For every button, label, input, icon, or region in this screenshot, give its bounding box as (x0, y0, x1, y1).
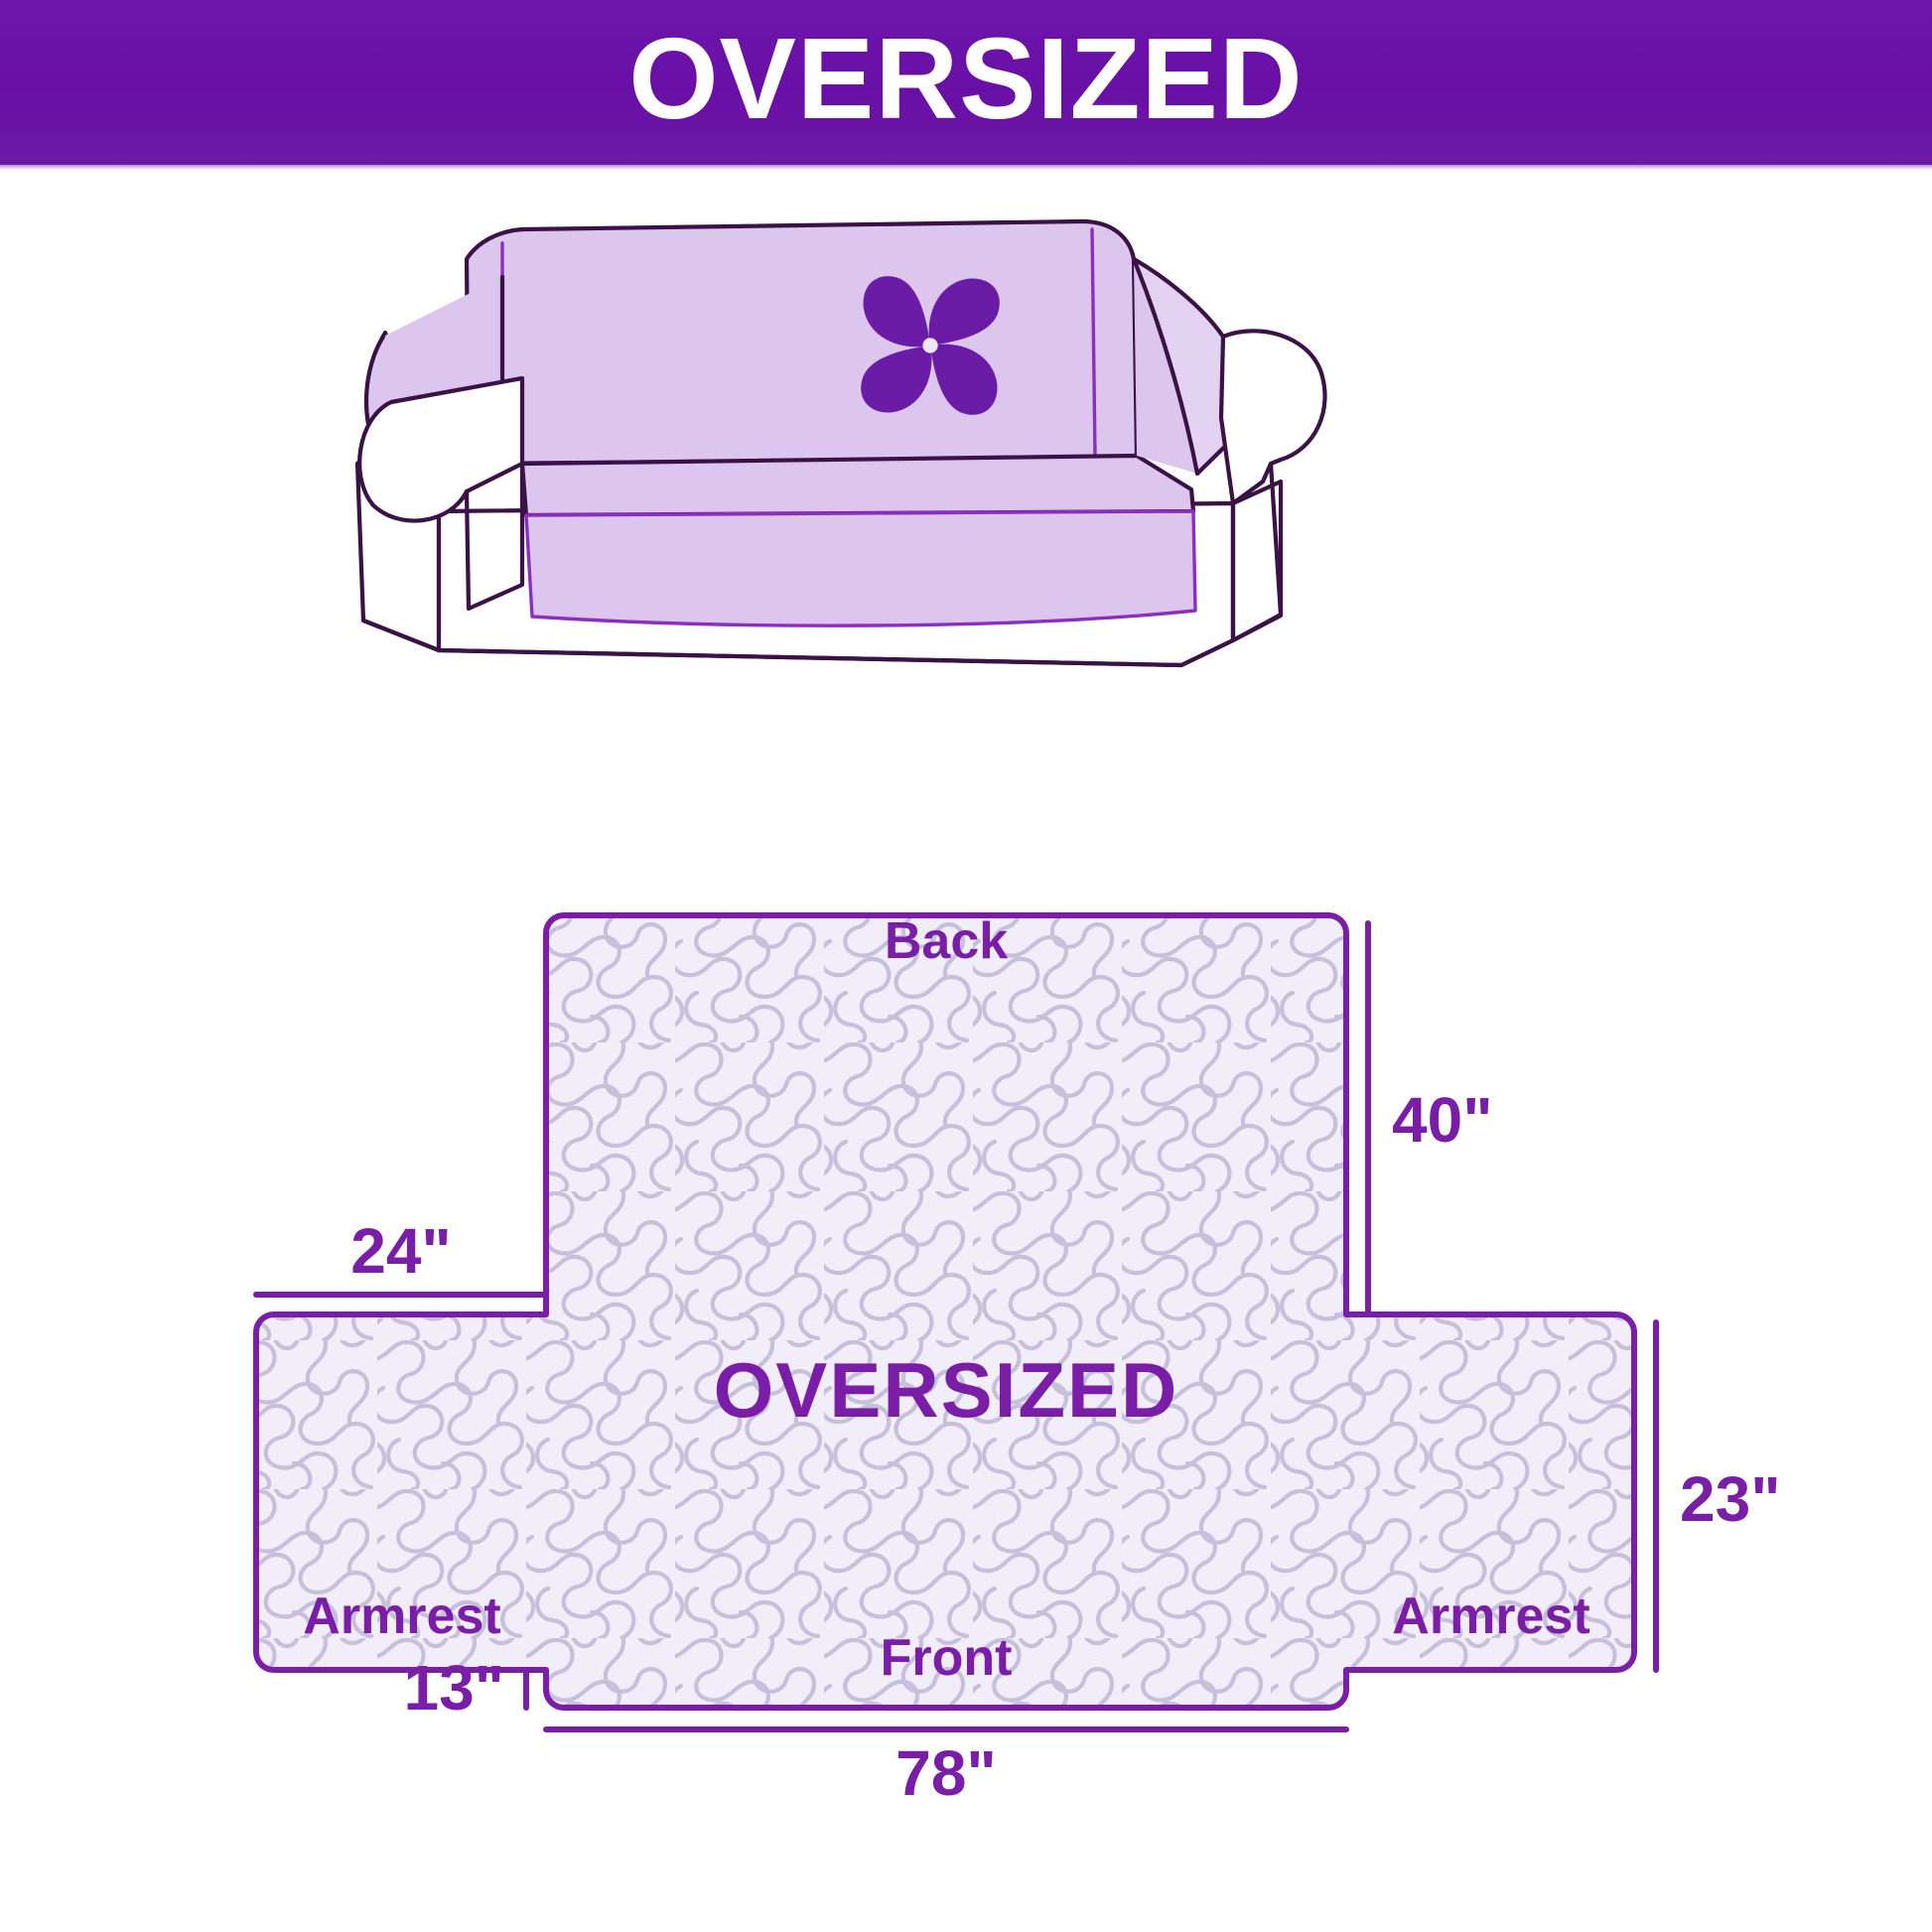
header-banner: OVERSIZED (0, 0, 1932, 165)
label-front: Front (881, 1629, 1013, 1687)
banner-underline-divider (0, 165, 1932, 171)
sofa-seat-cushion (522, 456, 1195, 625)
dimension-value-23in: 23" (1680, 1463, 1777, 1535)
label-armrest-left: Armrest (303, 1587, 500, 1645)
sofa-illustration: .ol { fill:none; stroke:#3B1246; stroke-… (328, 213, 1608, 705)
dimension-back-height: 40" (1368, 923, 1493, 1314)
dimension-armrest-depth: 23" (1656, 1322, 1777, 1670)
dimension-value-13in: 13" (403, 1652, 504, 1724)
dimension-back-offset: 24" (256, 1215, 546, 1295)
banner-title: OVERSIZED (628, 21, 1303, 136)
dimension-value-40in: 40" (1392, 1084, 1493, 1156)
label-armrest-right: Armrest (1392, 1587, 1589, 1645)
label-back: Back (885, 912, 1008, 970)
dimension-front-width: 78" (546, 1729, 1346, 1809)
sofa-back-cushion (467, 221, 1137, 464)
slipcover-pattern-diagram: Back Front Armrest Armrest OVERSIZED 40"… (228, 894, 1777, 1837)
dimension-value-24in: 24" (350, 1215, 452, 1287)
infographic-page: OVERSIZED .ol { fill:none; stroke:#3B124… (0, 0, 1932, 1932)
dimension-value-78in: 78" (896, 1737, 997, 1809)
diagram-center-title: OVERSIZED (714, 1346, 1179, 1434)
